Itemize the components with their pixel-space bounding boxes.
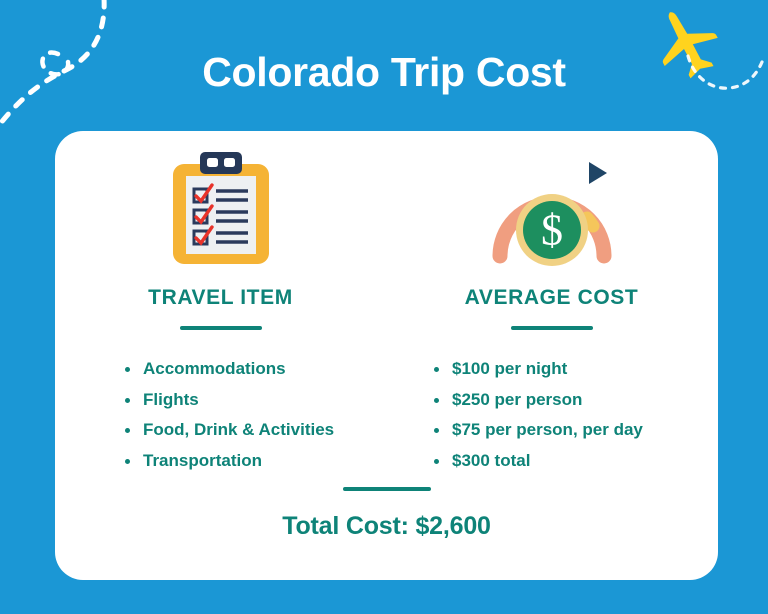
list-item: $75 per person, per day bbox=[434, 420, 643, 441]
bullet-dot-icon bbox=[434, 367, 439, 372]
list-item-label: Accommodations bbox=[143, 359, 286, 378]
column-heading-average-cost: AVERAGE COST bbox=[386, 286, 717, 310]
bullet-dot-icon bbox=[125, 428, 130, 433]
list-item-label: $250 per person bbox=[452, 390, 582, 409]
clipboard-checklist-icon bbox=[169, 152, 273, 268]
list-item-label: $100 per night bbox=[452, 359, 567, 378]
list-item-label: $75 per person, per day bbox=[452, 420, 643, 439]
bullet-dot-icon bbox=[434, 398, 439, 403]
dollar-coin-gauge-icon: $ bbox=[489, 152, 615, 268]
svg-text:$: $ bbox=[541, 206, 563, 255]
total-divider bbox=[343, 487, 431, 491]
list-item: $300 total bbox=[434, 451, 643, 472]
list-item: $250 per person bbox=[434, 390, 643, 411]
average-cost-list: $100 per night $250 per person $75 per p… bbox=[434, 359, 643, 482]
travel-items-list: Accommodations Flights Food, Drink & Act… bbox=[125, 359, 334, 482]
list-item-label: Flights bbox=[143, 390, 199, 409]
list-item: Transportation bbox=[125, 451, 334, 472]
bullet-dot-icon bbox=[125, 459, 130, 464]
bullet-dot-icon bbox=[434, 428, 439, 433]
bullet-dot-icon bbox=[434, 459, 439, 464]
heading-rule bbox=[180, 326, 262, 330]
clipboard-checklist-icon-wrap bbox=[55, 145, 386, 275]
list-item: Accommodations bbox=[125, 359, 334, 380]
list-item-label: Transportation bbox=[143, 451, 262, 470]
bullet-dot-icon bbox=[125, 398, 130, 403]
list-item: Flights bbox=[125, 390, 334, 411]
bullet-dot-icon bbox=[125, 367, 130, 372]
list-item-label: Food, Drink & Activities bbox=[143, 420, 334, 439]
content-card: TRAVEL ITEM Accommodations Flights Food,… bbox=[55, 131, 718, 580]
infographic-canvas: Colorado Trip Cost bbox=[0, 0, 768, 614]
list-item-label: $300 total bbox=[452, 451, 530, 470]
heading-rule bbox=[511, 326, 593, 330]
total-cost-label: Total Cost: $2,600 bbox=[55, 512, 718, 541]
column-heading-travel-item: TRAVEL ITEM bbox=[55, 286, 386, 310]
page-title: Colorado Trip Cost bbox=[0, 50, 768, 95]
list-item: $100 per night bbox=[434, 359, 643, 380]
list-item: Food, Drink & Activities bbox=[125, 420, 334, 441]
dollar-coin-gauge-icon-wrap: $ bbox=[386, 145, 717, 275]
